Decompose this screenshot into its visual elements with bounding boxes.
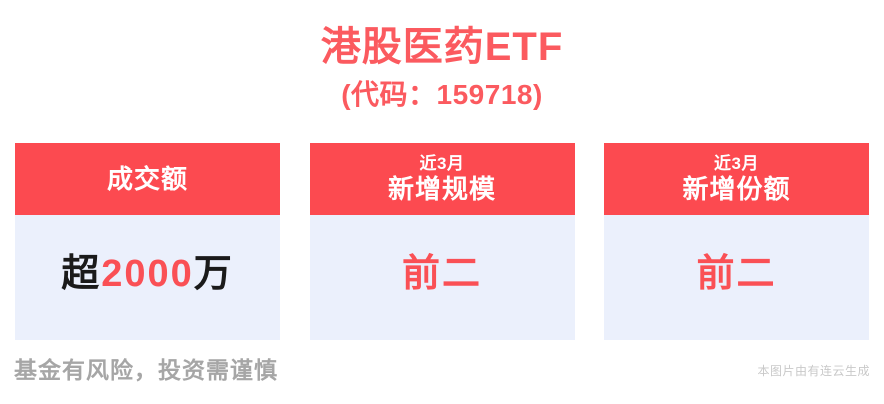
value-suffix: 万: [194, 253, 234, 295]
stat-card-body: 前二: [310, 215, 575, 340]
stat-card-header: 近3月 新增份额: [604, 143, 869, 215]
stat-card-header: 成交额: [15, 143, 280, 215]
stat-card-turnover: 成交额 超2000万: [15, 143, 280, 340]
stat-card-title: 成交额: [107, 164, 188, 195]
stat-card-title: 新增份额: [682, 174, 790, 205]
title-block: 港股医药ETF (代码：159718): [0, 22, 884, 115]
stat-card-value: 前二: [402, 251, 482, 297]
stat-card-period: 近3月: [420, 153, 465, 174]
stat-card-list: 成交额 超2000万 近3月 新增规模 前二 近3月 新增份额 前二: [15, 143, 869, 340]
stat-card-header: 近3月 新增规模: [310, 143, 575, 215]
page-title: 港股医药ETF: [0, 22, 884, 72]
stat-card-body: 前二: [604, 215, 869, 340]
generator-watermark: 本图片由有连云生成: [757, 363, 870, 380]
stat-card-value: 前二: [696, 251, 776, 297]
page-subtitle-code: (代码：159718): [0, 75, 884, 115]
poster-canvas: 港股医药ETF (代码：159718) 成交额 超2000万 近3月 新增规模 …: [0, 0, 884, 404]
value-prefix: 超: [61, 253, 101, 295]
stat-card-new-shares: 近3月 新增份额 前二: [604, 143, 869, 340]
stat-card-body: 超2000万: [15, 215, 280, 340]
stat-card-new-scale: 近3月 新增规模 前二: [310, 143, 575, 340]
stat-card-value: 超2000万: [61, 251, 234, 297]
stat-card-period: 近3月: [714, 153, 759, 174]
risk-disclaimer: 基金有风险，投资需谨慎: [14, 354, 278, 386]
stat-card-title: 新增规模: [388, 174, 496, 205]
value-number: 2000: [101, 253, 194, 295]
